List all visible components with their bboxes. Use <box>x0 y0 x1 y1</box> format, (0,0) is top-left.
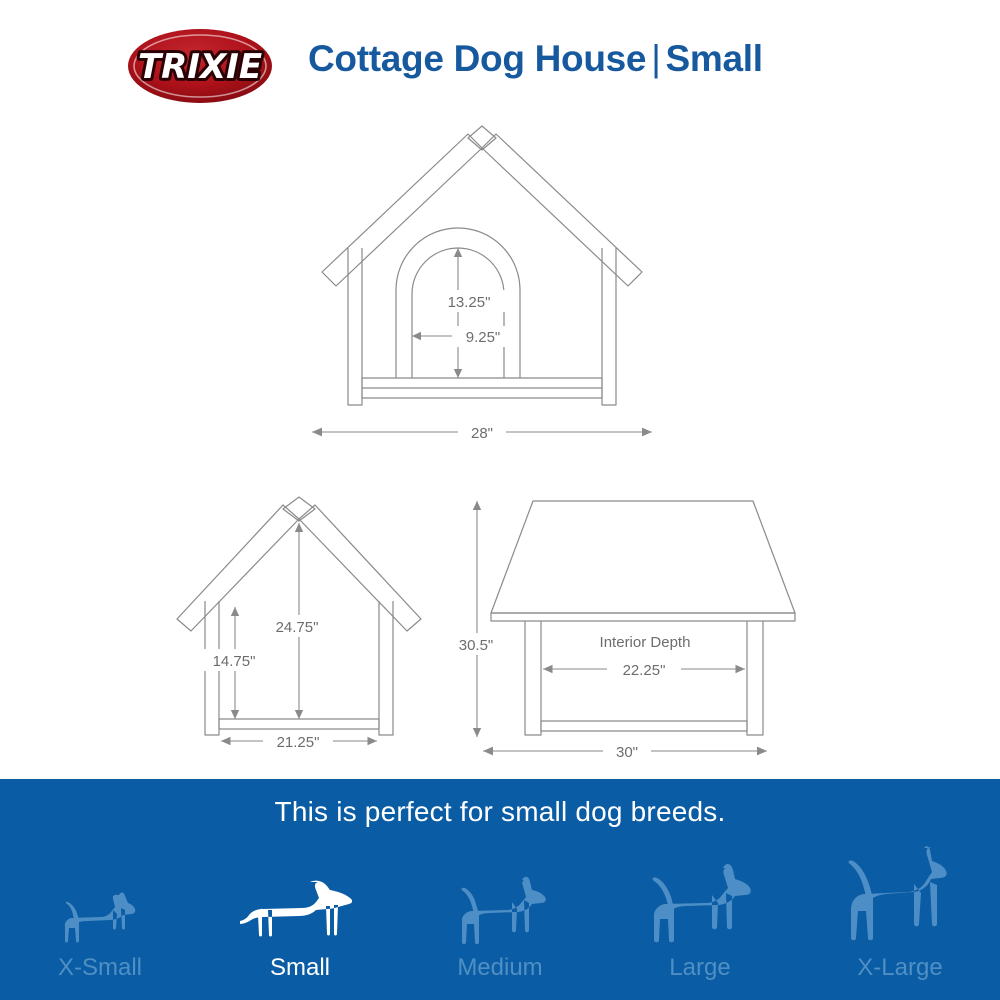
header: TRIXIE TRIXIE Cottage Dog House|Small <box>0 0 1000 108</box>
size-option-x-small[interactable]: X-Small <box>0 841 200 1000</box>
overall-width-label: 28" <box>471 425 493 442</box>
size-option-small[interactable]: Small <box>200 841 400 1000</box>
size-selector: X-Small Small Medium <box>0 841 1000 1000</box>
size-label-medium: Medium <box>457 950 542 1000</box>
overall-depth-label: 30" <box>616 744 638 761</box>
size-label-large: Large <box>669 950 730 1000</box>
svg-text:TRIXIE: TRIXIE <box>138 47 262 87</box>
depth-house-outline <box>491 501 795 735</box>
labrador-silhouette-icon <box>600 841 800 950</box>
interior-depth-label: 22.25" <box>623 662 666 679</box>
chihuahua-silhouette-icon <box>0 841 200 950</box>
size-guide-footer: This is perfect for small dog breeds. X-… <box>0 779 1000 1000</box>
size-label-small: Small <box>270 950 330 1000</box>
door-height-dimension <box>454 248 462 378</box>
product-spec-sheet: TRIXIE TRIXIE Cottage Dog House|Small <box>0 0 1000 1000</box>
title-separator: | <box>646 38 665 79</box>
door-height-label: 13.25" <box>448 294 491 311</box>
depth-elevation-drawing: 30.5" Interior Depth 22.25" <box>465 483 815 768</box>
size-label-x-large: X-Large <box>857 950 942 1000</box>
front-elevation-drawing: 13.25" 9.25" 28" <box>300 108 680 458</box>
trixie-logo: TRIXIE TRIXIE <box>126 22 274 106</box>
peak-height-label: 24.75" <box>276 619 319 636</box>
technical-drawings: 13.25" 9.25" 28" <box>0 108 1000 775</box>
terrier-silhouette-icon <box>400 841 600 950</box>
size-option-medium[interactable]: Medium <box>400 841 600 1000</box>
great-dane-silhouette-icon <box>800 841 1000 950</box>
interior-depth-title: Interior Depth <box>600 634 691 651</box>
title-main: Cottage Dog House <box>308 38 646 79</box>
size-option-large[interactable]: Large <box>600 841 800 1000</box>
wall-height-label: 14.75" <box>213 653 256 670</box>
side-elevation-drawing: 24.75" 14.75" 21.25" <box>165 483 465 768</box>
title-size: Small <box>666 38 763 79</box>
front-house-outline <box>322 126 642 405</box>
overall-height-dimension <box>473 501 481 737</box>
size-label-x-small: X-Small <box>58 950 142 1000</box>
interior-width-label: 21.25" <box>277 734 320 751</box>
dachshund-silhouette-icon <box>200 841 400 950</box>
footer-tagline: This is perfect for small dog breeds. <box>0 796 1000 828</box>
size-option-x-large[interactable]: X-Large <box>800 841 1000 1000</box>
overall-height-label: 30.5" <box>459 637 494 654</box>
page-title: Cottage Dog House|Small <box>308 38 763 80</box>
door-width-label: 9.25" <box>466 329 501 346</box>
